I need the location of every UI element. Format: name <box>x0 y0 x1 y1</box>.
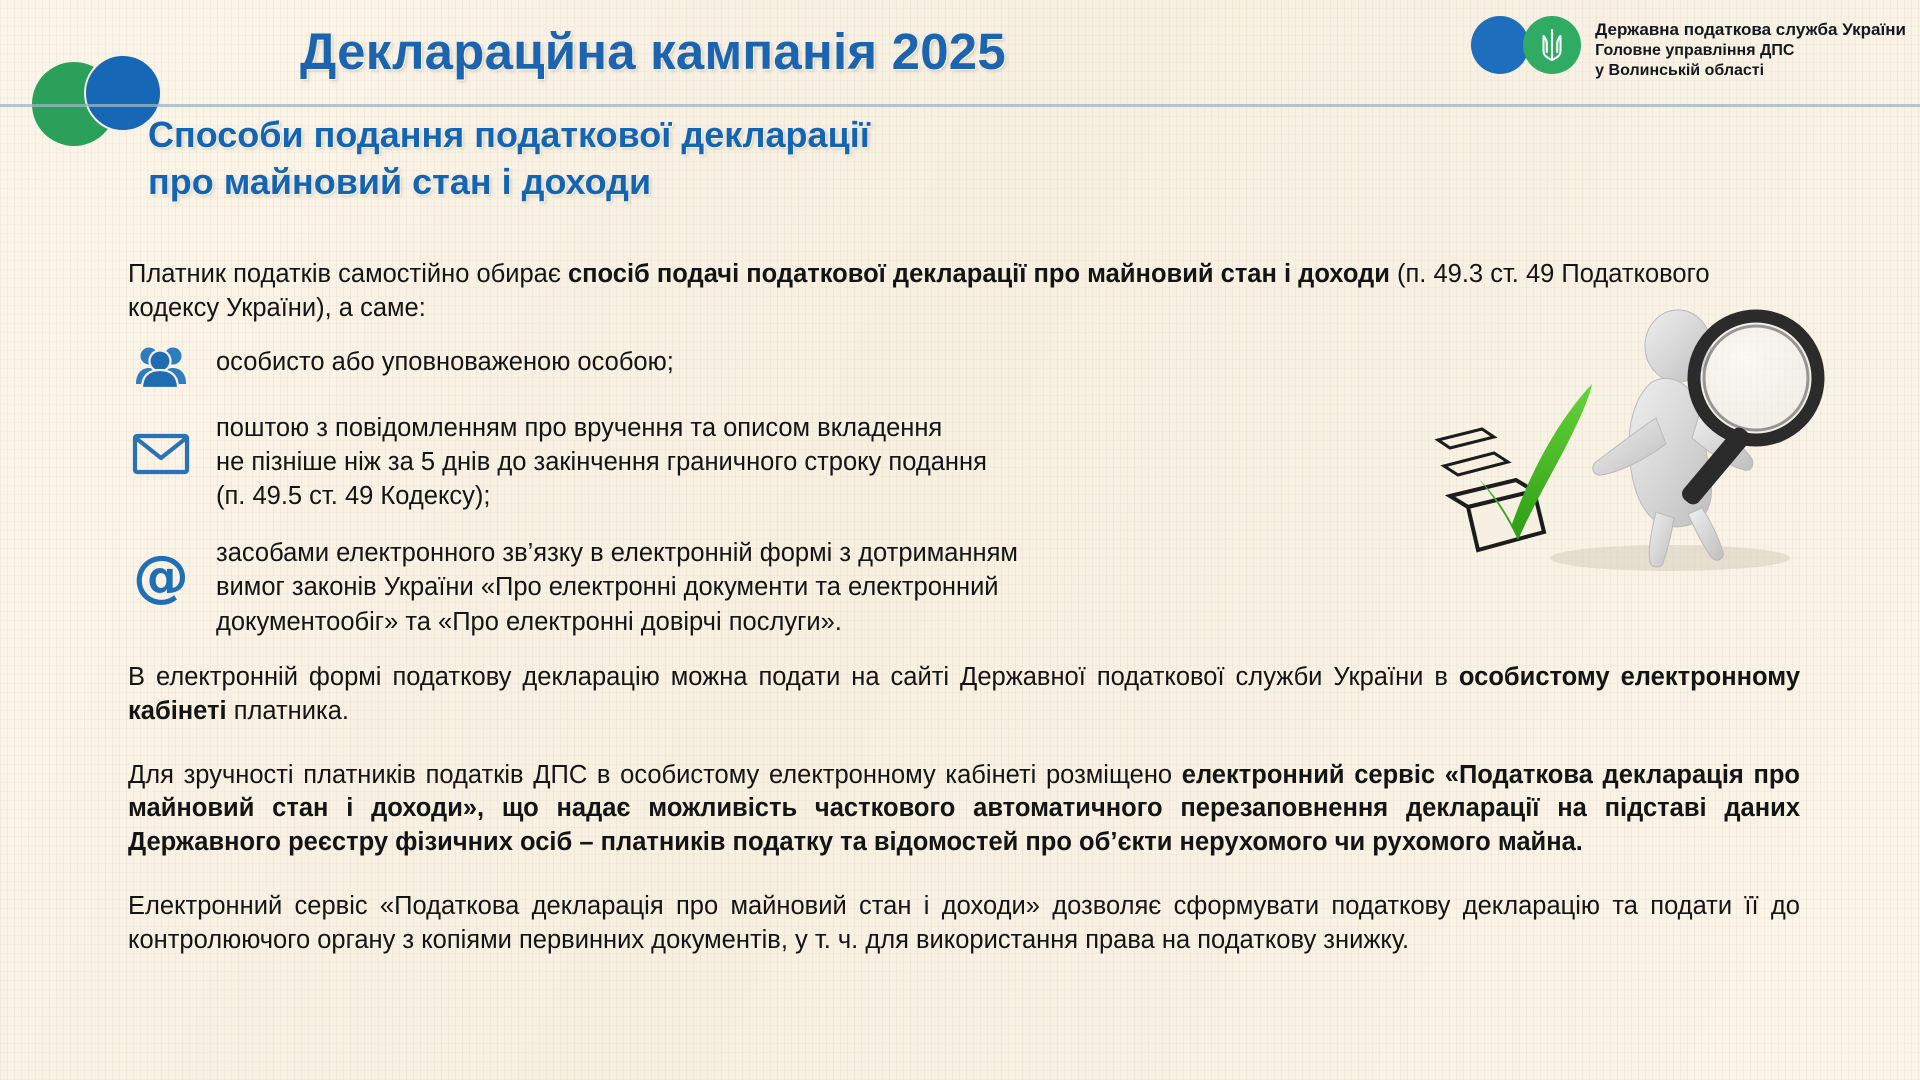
list-item-label: особисто або уповноваженою особою; <box>216 344 674 379</box>
list-item-label: засобами електронного зв’язку в електрон… <box>216 535 1018 638</box>
submission-methods-list: особисто або уповноваженою особою; пошто… <box>128 344 1800 639</box>
intro-lead-bold: спосіб подачі податкової декларації про … <box>568 260 1390 288</box>
org-name-line-1: Державна податкова служба України <box>1595 19 1906 41</box>
bullet-3-line-2: вимог законів України «Про електронні до… <box>216 573 999 601</box>
trident-icon <box>1539 29 1565 61</box>
p1-part-a: В електронній формі податкову декларацію… <box>128 663 1459 691</box>
org-name-line-2: Головне управління ДПС <box>1595 41 1906 61</box>
paragraph-service-description: Для зручності платників податків ДПС в о… <box>128 759 1800 861</box>
dps-logo <box>1471 16 1581 74</box>
subtitle-line-1: Способи подання податкової декларації <box>148 112 1198 159</box>
paragraph-electronic-cabinet: В електронній формі податкову декларацію… <box>128 661 1800 729</box>
main-content: Платник податків самостійно обирає спосі… <box>128 258 1800 962</box>
organisation-branding: Державна податкова служба України Головн… <box>1471 16 1906 80</box>
paragraph-service-capabilities: Електронний сервіс «Податкова декларація… <box>128 890 1800 958</box>
people-icon <box>128 344 194 388</box>
header-divider <box>0 104 1920 107</box>
p2-part-a: Для зручності платників податків ДПС в о… <box>128 761 1182 789</box>
bullet-2-line-2: не пізніше ніж за 5 днів до закінчення г… <box>216 448 987 476</box>
logo-blue-circle <box>1471 16 1529 74</box>
list-item-electronic: @ засобами електронного зв’язку в електр… <box>128 535 1800 638</box>
intro-paragraph: Платник податків самостійно обирає спосі… <box>128 258 1800 326</box>
bullet-1-line-1: особисто або уповноваженою особою; <box>216 348 674 376</box>
envelope-icon <box>128 410 194 476</box>
at-glyph: @ <box>133 549 189 605</box>
org-name-line-3: у Волинській області <box>1595 61 1906 81</box>
list-item-in-person: особисто або уповноваженою особою; <box>128 344 1800 388</box>
list-item-postal: поштою з повідомленням про вручення та о… <box>128 410 1800 513</box>
list-item-label: поштою з повідомленням про вручення та о… <box>216 410 987 513</box>
page-subtitle: Способи подання податкової декларації пр… <box>148 112 1198 206</box>
page-title: Декларацйна кампанія 2025 <box>300 22 1160 81</box>
p1-part-b: платника. <box>227 697 349 725</box>
bullet-2-line-1: поштою з повідомленням про вручення та о… <box>216 414 942 442</box>
subtitle-line-2: про майновий стан і доходи <box>148 159 1198 206</box>
bullet-3-line-1: засобами електронного зв’язку в електрон… <box>216 539 1018 567</box>
bullet-3-line-3: документообіг» та «Про електронні довірч… <box>216 608 842 636</box>
intro-lead-normal: Платник податків самостійно обирає <box>128 260 568 288</box>
bullet-2-line-3: (п. 49.5 ст. 49 Кодексу); <box>216 482 490 510</box>
at-icon: @ <box>128 535 194 605</box>
logo-green-circle <box>1523 16 1581 74</box>
